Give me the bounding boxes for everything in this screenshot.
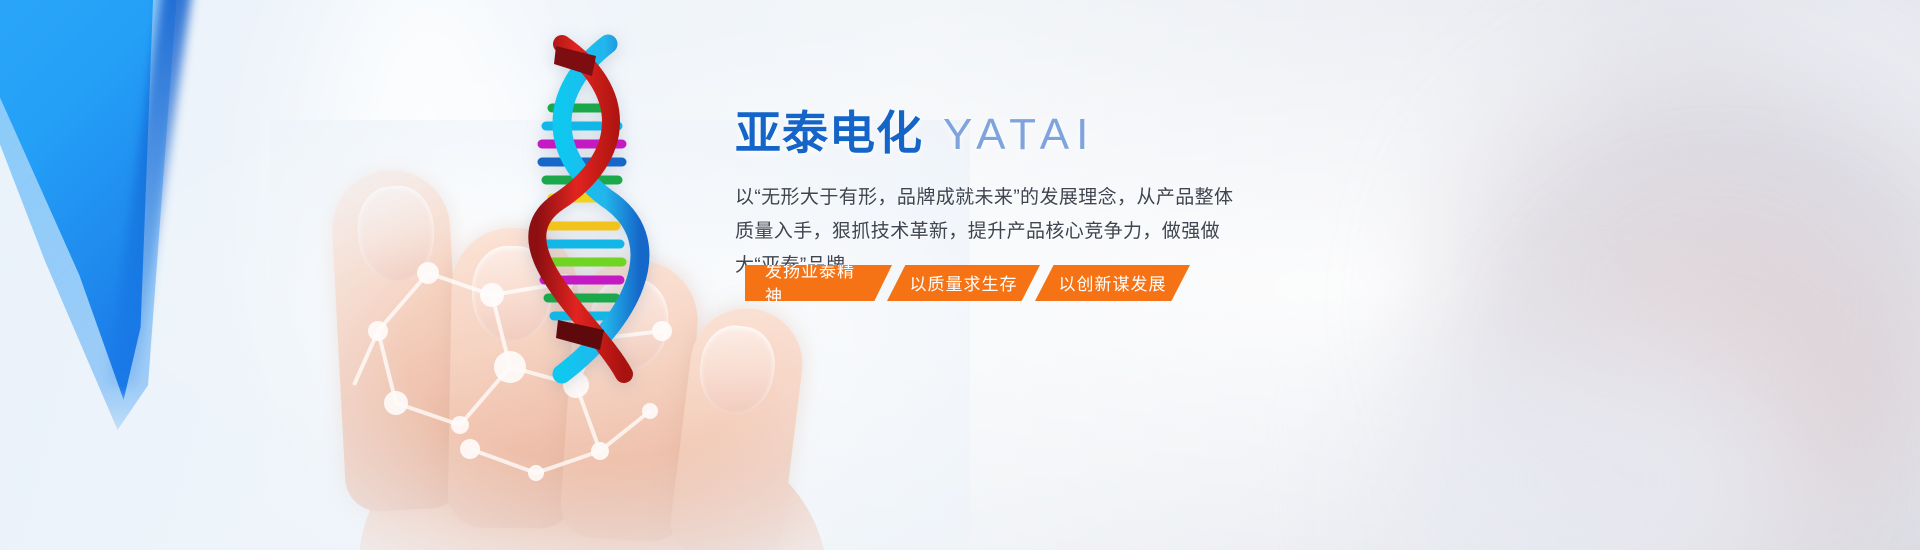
slogan-tag-label: 发扬亚泰精神 [765, 257, 872, 307]
slogan-tag-label: 以创新谋发展 [1059, 270, 1167, 295]
banner-text-block: 亚泰电化YATAI 以“无形大于有形，品牌成就未来”的发展理念，从产品整体质量入… [735, 110, 1295, 283]
slogan-tag[interactable]: 发扬亚泰精神 [745, 265, 892, 301]
slogan-tag[interactable]: 以创新谋发展 [1035, 265, 1190, 301]
promo-banner: 亚泰电化YATAI 以“无形大于有形，品牌成就未来”的发展理念，从产品整体质量入… [0, 0, 1920, 550]
page-title: 亚泰电化YATAI [735, 110, 1295, 157]
slogan-tag[interactable]: 以质量求生存 [887, 265, 1040, 301]
background-blob [1380, 330, 1810, 550]
background-blob [1455, 70, 1920, 540]
dna-helix-icon [500, 30, 660, 390]
slogan-tag-label: 以质量求生存 [910, 270, 1018, 295]
background-blob [1700, 0, 1920, 220]
brand-title-cn: 亚泰电化 [735, 107, 923, 159]
slogan-tag-list: 发扬亚泰精神 以质量求生存 以创新谋发展 [745, 265, 1190, 301]
background-blob [1560, 230, 1890, 550]
brand-title-en: YATAI [943, 110, 1095, 159]
